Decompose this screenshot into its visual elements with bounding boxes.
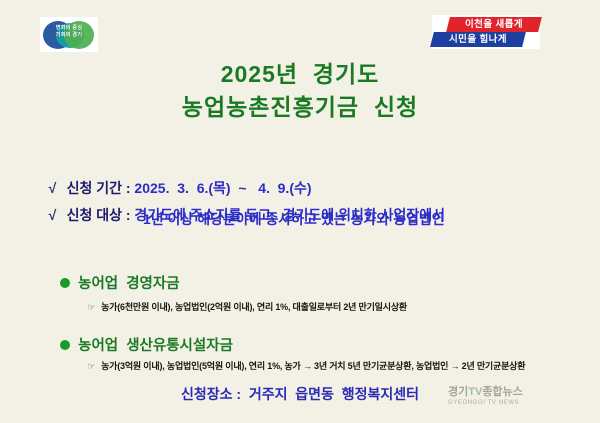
page-title-line2: 농업농촌진흥기금 신청 — [0, 90, 600, 124]
fund-detail-facility-text: 농가(3억원 이내), 농업법인(5억원 이내), 연리 1%, 농가 → 3년… — [101, 361, 525, 371]
bullet-dot-icon — [60, 278, 70, 288]
page-title: 2025년 경기도 농업농촌진흥기금 신청 — [0, 58, 600, 124]
pointing-hand-icon: ☞ — [87, 359, 95, 373]
bullet-dot-icon — [60, 340, 70, 350]
icheon-slogan-line1: 이천을 새롭게 — [448, 17, 540, 32]
pointing-hand-icon: ☞ — [87, 300, 95, 314]
logo-text-line2: 기회의 경기 — [40, 32, 98, 39]
poster-canvas: 변화의 중심 기회의 경기 이천을 새롭게 시민을 힘나게 2025년 경기도 … — [0, 0, 600, 423]
check-mark-icon: √ — [49, 205, 67, 225]
icheon-slogan-line2: 시민을 힘나게 — [432, 32, 524, 47]
eligibility-line-continued: 1년 이상 해당분야에 종사하고 있는 농가와 농업법인 — [143, 209, 445, 229]
logo-text-line1: 변화의 중심 — [40, 25, 98, 32]
logo-text: 변화의 중심 기회의 경기 — [40, 25, 98, 39]
gyeonggi-province-logo: 변화의 중심 기회의 경기 — [40, 17, 98, 52]
fund-detail-facility: ☞농가(3억원 이내), 농업법인(5억원 이내), 연리 1%, 농가 → 3… — [78, 345, 525, 387]
fund-detail-management-text: 농가(6천만원 이내), 농업법인(2억원 이내), 연리 1%, 대출일로부터… — [101, 302, 407, 312]
application-place-line: 신청장소 : 거주지 읍면동 행정복지센터 — [0, 384, 600, 404]
eligibility-label: 신청 대상 : — [67, 207, 135, 223]
icheon-slogan-stripe-red: 이천을 새롭게 — [446, 17, 542, 32]
icheon-city-slogan: 이천을 새롭게 시민을 힘나게 — [432, 15, 540, 49]
page-title-line1: 2025년 경기도 — [0, 58, 600, 90]
icheon-slogan-stripe-blue: 시민을 힘나게 — [430, 32, 526, 47]
